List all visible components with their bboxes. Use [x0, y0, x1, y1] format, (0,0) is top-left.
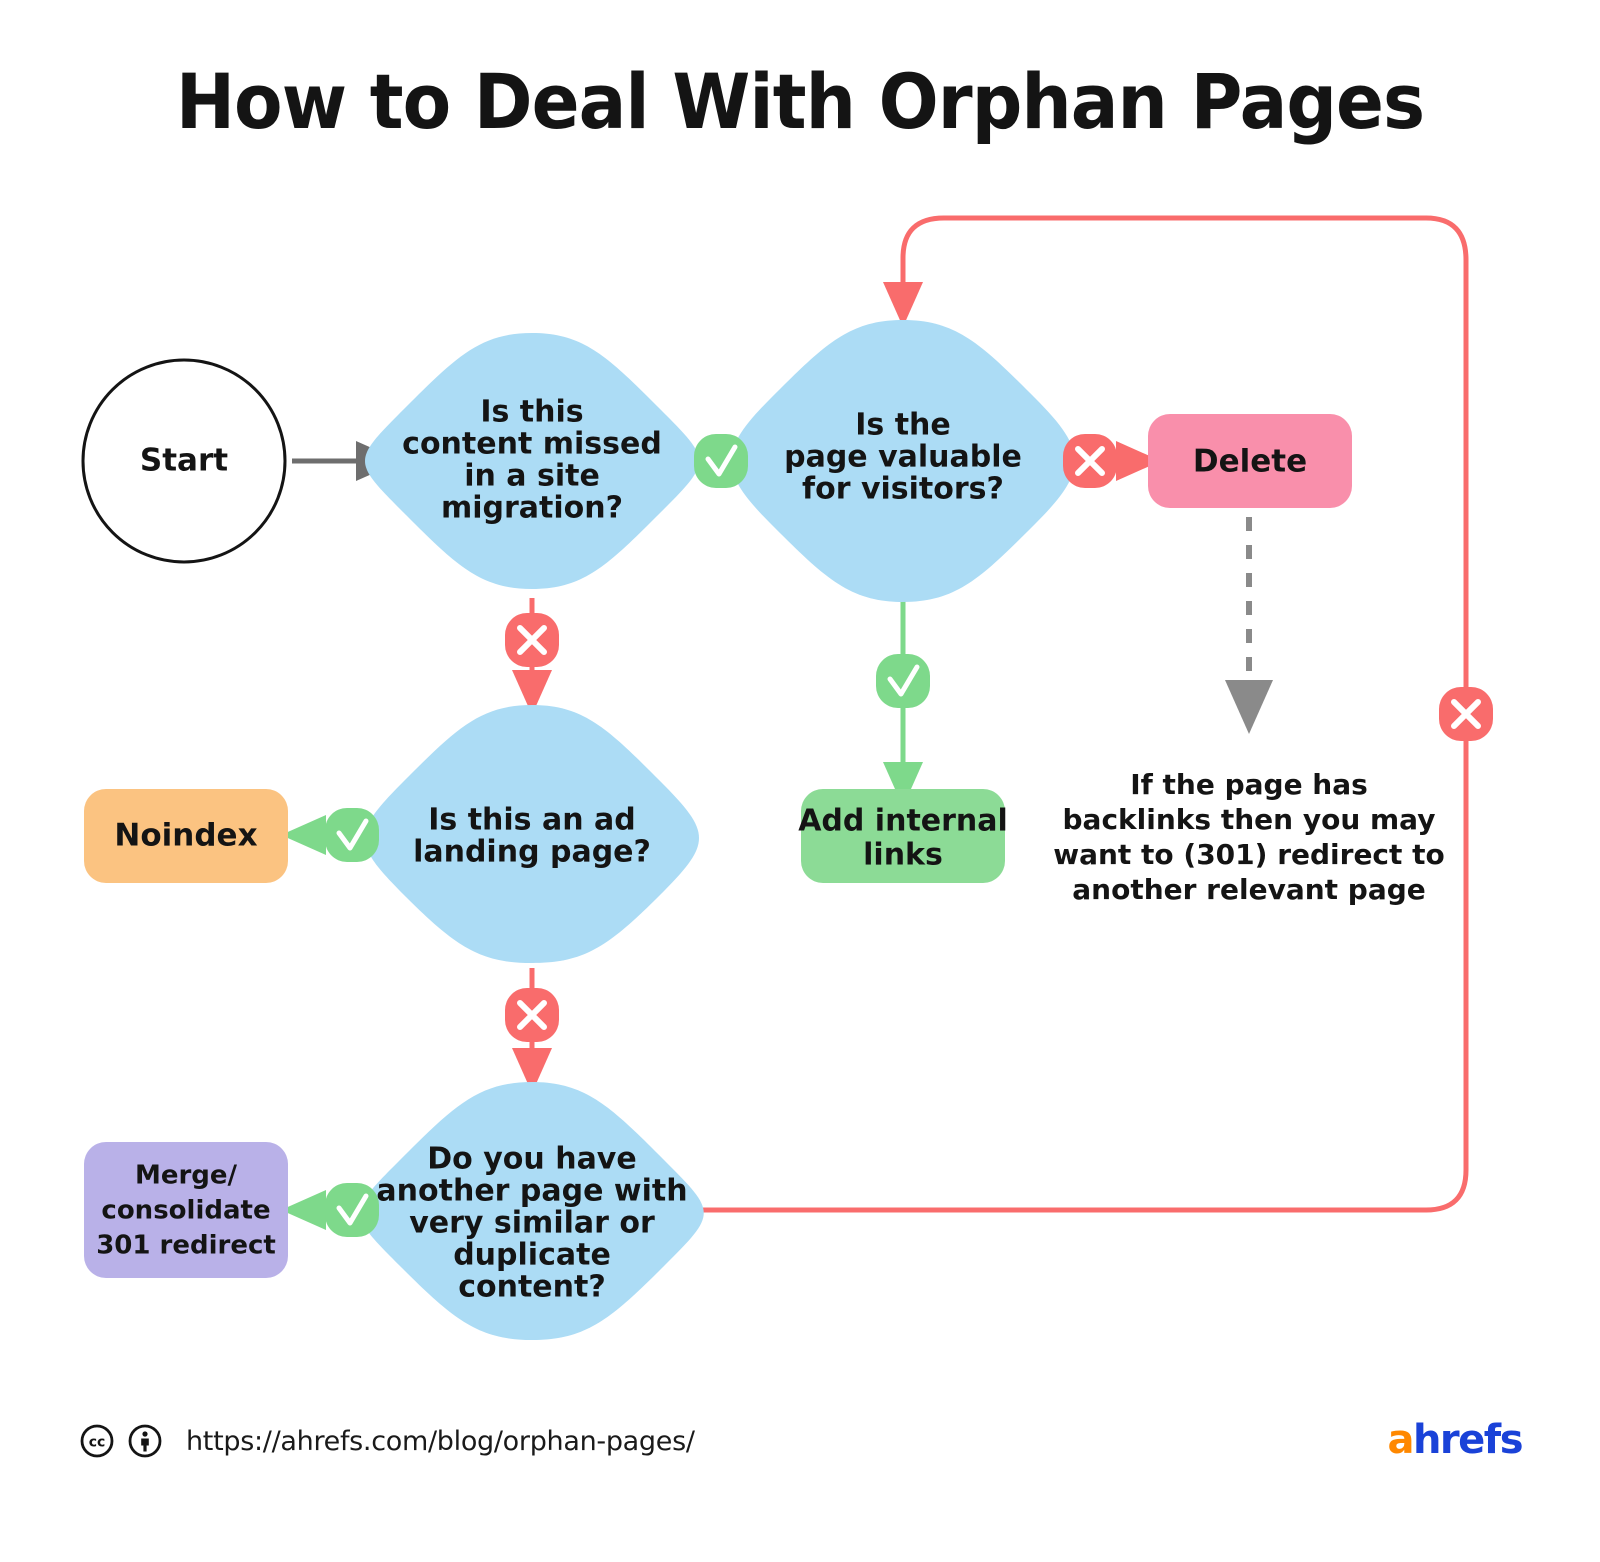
node-q3-line-2: landing page? — [413, 835, 651, 870]
badge-no-q4-to-q2-loopback — [1439, 687, 1493, 741]
source-url[interactable]: https://ahrefs.com/blog/orphan-pages/ — [186, 1426, 695, 1457]
node-add-internal-links[interactable]: Add internal links — [798, 789, 1008, 883]
attribution-icon — [128, 1424, 162, 1458]
note-backlinks-redirect: If the page has backlinks then you may w… — [1053, 768, 1445, 906]
badge-no-q3-to-q4 — [505, 988, 559, 1042]
badge-no-q1-to-q3 — [505, 613, 559, 667]
node-q2-line-2: page valuable — [784, 440, 1022, 475]
node-start-label: Start — [140, 443, 228, 479]
flowchart-svg: Start Is this content missed in a site m… — [0, 0, 1600, 1562]
note-line-2: backlinks then you may — [1063, 803, 1436, 836]
node-q1-line-2: content missed — [402, 427, 662, 462]
badge-yes-q1-to-q2 — [694, 434, 748, 488]
badge-yes-q3-to-noindex — [325, 808, 379, 862]
node-q4-line-2: another page with — [376, 1174, 687, 1209]
node-delete[interactable]: Delete — [1148, 414, 1352, 508]
node-q4-line-5: content? — [458, 1270, 606, 1305]
node-q2-decision[interactable]: Is the page valuable for visitors? — [731, 320, 1075, 602]
badge-yes-q4-to-merge — [325, 1183, 379, 1237]
node-start[interactable]: Start — [83, 360, 285, 562]
node-noindex[interactable]: Noindex — [84, 789, 288, 883]
node-merge-line-2: consolidate — [101, 1196, 270, 1226]
ahrefs-logo-a: a — [1387, 1417, 1413, 1463]
node-q4-decision[interactable]: Do you have another page with very simil… — [360, 1082, 704, 1340]
node-q4-line-3: very similar or — [409, 1206, 655, 1241]
node-delete-label: Delete — [1193, 444, 1307, 480]
node-q1-line-3: in a site — [464, 459, 600, 494]
node-q2-line-3: for visitors? — [802, 472, 1004, 507]
node-merge-line-3: 301 redirect — [96, 1231, 276, 1261]
node-q4-line-4: duplicate — [453, 1238, 611, 1273]
ahrefs-logo: ahrefs — [1387, 1420, 1522, 1460]
note-line-4: another relevant page — [1072, 873, 1426, 906]
node-q1-decision[interactable]: Is this content missed in a site migrati… — [365, 333, 699, 589]
node-merge-line-1: Merge/ — [135, 1161, 238, 1191]
svg-text:cc: cc — [89, 1435, 106, 1451]
node-q1-line-4: migration? — [441, 491, 623, 526]
note-line-3: want to (301) redirect to — [1053, 838, 1445, 871]
node-noindex-label: Noindex — [114, 818, 257, 854]
node-merge[interactable]: Merge/ consolidate 301 redirect — [84, 1142, 288, 1278]
infographic-canvas: How to Deal With Orphan Pages — [0, 0, 1600, 1562]
ahrefs-logo-hrefs: hrefs — [1413, 1417, 1522, 1463]
node-q1-line-1: Is this — [480, 395, 583, 430]
badge-yes-q2-to-addlinks — [876, 654, 930, 708]
node-q4-line-1: Do you have — [427, 1142, 636, 1177]
edge-q4-to-q2-loopback-no — [660, 218, 1466, 1210]
creative-commons-icon: cc — [80, 1424, 114, 1458]
node-addlinks-line-2: links — [863, 838, 943, 873]
note-line-1: If the page has — [1130, 768, 1368, 801]
node-addlinks-line-1: Add internal — [798, 804, 1008, 839]
node-q3-line-1: Is this an ad — [428, 803, 636, 838]
node-q3-decision[interactable]: Is this an ad landing page? — [365, 705, 699, 963]
footer: cc https://ahrefs.com/blog/orphan-pages/ — [80, 1424, 695, 1458]
badge-no-q2-to-delete — [1063, 434, 1117, 488]
node-q2-line-1: Is the — [855, 408, 951, 443]
